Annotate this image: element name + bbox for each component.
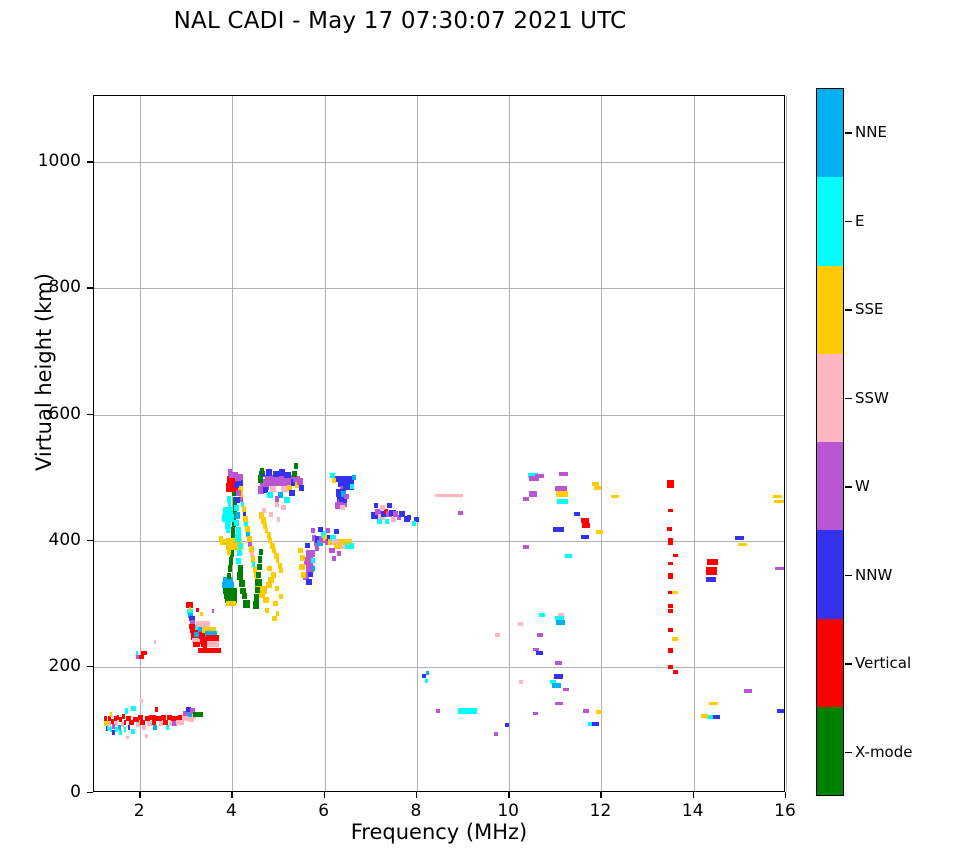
echo-pixel	[125, 708, 128, 713]
colorbar-label-nne: NNE	[855, 123, 887, 141]
echo-pixel	[668, 648, 673, 653]
echo-pixel	[668, 628, 673, 632]
echo-pixel	[594, 486, 600, 490]
echo-pixel	[533, 712, 538, 715]
echo-pixel	[556, 620, 564, 625]
echo-pixel	[193, 642, 200, 647]
echo-pixel	[592, 722, 598, 726]
y-tick	[87, 792, 93, 793]
echo-pixel	[259, 549, 263, 555]
x-tick	[693, 792, 694, 798]
echo-pixel	[344, 494, 349, 499]
echo-pixel	[706, 577, 716, 582]
echo-pixel	[289, 490, 295, 496]
echo-pixel	[227, 550, 232, 555]
echo-pixel	[239, 580, 245, 586]
colorbar-segment-x-mode[interactable]	[817, 707, 843, 795]
echo-pixel	[668, 573, 673, 578]
echo-pixel	[596, 710, 602, 714]
colorbar-label-sse: SSE	[855, 300, 884, 318]
echo-pixel	[271, 572, 276, 578]
echo-pixel	[495, 633, 500, 637]
echo-pixel	[701, 714, 707, 718]
y-tick	[87, 666, 93, 667]
echo-pixel	[119, 730, 122, 735]
echo-pixel	[299, 564, 305, 570]
echo-pixel	[556, 491, 568, 496]
echo-pixel	[292, 471, 297, 477]
echo-pixel	[523, 545, 529, 549]
colorbar-segment-nne[interactable]	[817, 89, 843, 177]
echo-pixel	[305, 543, 310, 548]
y-tick-label: 400	[13, 530, 81, 550]
echo-pixel	[574, 512, 580, 516]
echo-pixel	[281, 505, 286, 510]
echo-pixel	[668, 541, 673, 545]
echo-pixel	[231, 527, 235, 535]
echo-pixel	[131, 729, 135, 734]
colorbar-segment-w[interactable]	[817, 442, 843, 530]
x-tick-label: 8	[411, 801, 422, 821]
echo-pixel	[735, 536, 744, 540]
echo-pixel	[235, 512, 240, 518]
echo-pixel	[141, 651, 147, 655]
x-tick-label: 12	[590, 801, 612, 821]
echo-pixel	[124, 727, 127, 732]
echo-pixel	[279, 594, 284, 599]
echo-pixel	[337, 551, 342, 556]
echo-pixel	[155, 707, 158, 712]
x-tick-label: 14	[682, 801, 704, 821]
echo-pixel	[226, 528, 230, 533]
echo-pixel	[269, 512, 273, 517]
echo-pixel	[263, 597, 269, 603]
echo-pixel	[262, 508, 266, 513]
colorbar-tick	[845, 575, 852, 576]
colorbar-tick	[845, 132, 852, 133]
echo-pixel	[189, 607, 192, 611]
echo-pixel	[284, 472, 290, 478]
colorbar-label-e: E	[855, 212, 864, 230]
echo-pixel	[426, 671, 429, 675]
x-tick	[508, 792, 509, 798]
echo-pixel	[255, 587, 261, 593]
echo-pixel	[435, 494, 463, 497]
echo-pixel	[668, 665, 673, 669]
echo-pixel	[563, 688, 569, 691]
y-tick-label: 1000	[13, 151, 81, 171]
colorbar-segment-nnw[interactable]	[817, 530, 843, 618]
colorbar-label-ssw: SSW	[855, 389, 889, 407]
echo-pixel	[350, 484, 355, 489]
y-tick-label: 200	[13, 656, 81, 676]
echo-pixel	[349, 543, 355, 549]
echo-pixel	[668, 562, 673, 566]
echo-pixel	[523, 497, 529, 501]
x-tick-label: 4	[226, 801, 237, 821]
echo-pixel	[374, 503, 379, 508]
echo-pixel	[131, 706, 136, 711]
echo-pixel	[196, 608, 199, 612]
y-axis-label: Virtual height (km)	[32, 242, 56, 502]
colorbar-tick	[845, 221, 852, 222]
echo-pixel	[284, 497, 290, 503]
echo-pixel	[553, 527, 563, 532]
echo-pixel	[195, 712, 202, 717]
echo-pixel	[738, 543, 747, 547]
colorbar[interactable]	[816, 88, 844, 796]
echo-pixel	[298, 548, 303, 553]
echo-pixel	[559, 472, 568, 476]
echo-pixel	[267, 566, 272, 571]
echo-pixel	[744, 689, 751, 693]
x-tick	[139, 792, 140, 798]
echo-pixel	[267, 492, 273, 498]
echo-pixel	[673, 670, 679, 674]
x-tick	[416, 792, 417, 798]
echo-pixel	[207, 641, 219, 647]
colorbar-tick	[845, 752, 852, 753]
echo-scatter-canvas	[94, 96, 784, 791]
echo-pixel	[539, 613, 545, 617]
echo-pixel	[352, 475, 356, 480]
echo-pixel	[294, 463, 298, 469]
x-tick-label: 2	[134, 801, 145, 821]
echo-pixel	[222, 514, 234, 523]
y-tick	[87, 414, 93, 415]
x-tick-label: 16	[774, 801, 796, 821]
echo-pixel	[529, 491, 537, 496]
x-tick	[324, 792, 325, 798]
echo-pixel	[557, 499, 568, 504]
colorbar-segment-vertical[interactable]	[817, 619, 843, 707]
echo-pixel	[266, 469, 272, 475]
echo-pixel	[122, 714, 125, 719]
echo-pixel	[306, 550, 315, 558]
echo-pixel	[387, 503, 392, 508]
echo-pixel	[308, 572, 313, 577]
echo-pixel	[552, 683, 561, 688]
x-tick-label: 10	[497, 801, 519, 821]
echo-pixel	[425, 679, 428, 683]
echo-pixel	[254, 594, 260, 600]
echo-pixel	[272, 616, 277, 621]
echo-pixel	[223, 507, 233, 513]
x-tick-label: 6	[318, 801, 329, 821]
echo-pixel	[611, 495, 619, 499]
echo-pixel	[668, 509, 673, 513]
echo-pixel	[140, 699, 143, 703]
echo-pixel	[275, 502, 280, 507]
colorbar-label-x-mode: X-mode	[855, 743, 912, 761]
y-tick	[87, 161, 93, 162]
echo-pixel	[306, 579, 312, 585]
echo-pixel	[256, 572, 261, 578]
echo-pixel	[582, 523, 590, 528]
echo-pixel	[536, 651, 543, 655]
echo-pixel	[436, 709, 440, 713]
echo-pixel	[581, 535, 589, 539]
colorbar-label-w: W	[855, 477, 870, 495]
echo-pixel	[200, 612, 203, 616]
echo-pixel	[583, 709, 589, 712]
echo-pixel	[412, 521, 416, 526]
echo-pixel	[238, 565, 244, 573]
echo-pixel	[142, 725, 146, 730]
colorbar-label-vertical: Vertical	[855, 654, 911, 672]
echo-pixel	[332, 556, 336, 561]
echo-pixel	[260, 468, 264, 474]
echo-pixel	[236, 490, 241, 496]
echo-pixel	[555, 702, 562, 705]
echo-pixel	[713, 715, 720, 719]
colorbar-tick	[845, 398, 852, 399]
echo-pixel	[334, 529, 339, 534]
echo-pixel	[228, 565, 233, 573]
echo-pixel	[706, 567, 717, 575]
y-tick	[87, 540, 93, 541]
echo-pixel	[227, 573, 232, 579]
echo-pixel	[707, 559, 718, 565]
echo-pixel	[535, 474, 544, 478]
page-title: NAL CADI - May 17 07:30:07 2021 UTC	[0, 8, 800, 34]
echo-pixel	[709, 702, 717, 706]
echo-pixel	[235, 534, 241, 542]
echo-pixel	[234, 505, 239, 511]
echo-pixel	[554, 674, 562, 679]
echo-pixel	[391, 517, 396, 522]
echo-pixel	[258, 475, 263, 483]
echo-pixel	[242, 593, 248, 599]
echo-pixel	[229, 557, 234, 565]
echo-pixel	[494, 732, 498, 736]
x-tick	[600, 792, 601, 798]
echo-pixel	[153, 725, 157, 730]
echo-pixel	[255, 579, 261, 587]
echo-pixel	[565, 554, 571, 558]
echo-pixel	[258, 556, 262, 562]
echo-pixel	[126, 736, 129, 740]
echo-pixel	[377, 519, 382, 524]
echo-pixel	[311, 528, 315, 533]
echo-pixel	[332, 478, 336, 483]
echo-pixel	[226, 601, 236, 606]
echo-pixel	[234, 482, 239, 488]
echo-pixel	[219, 536, 224, 541]
x-axis-label: Frequency (MHz)	[93, 820, 785, 844]
echo-pixel	[311, 558, 315, 563]
echo-pixel	[253, 601, 259, 609]
echo-pixel	[773, 495, 782, 499]
echo-pixel	[110, 712, 113, 717]
echo-pixel	[774, 500, 784, 504]
colorbar-tick	[845, 486, 852, 487]
echo-pixel	[668, 604, 673, 608]
echo-pixel	[235, 497, 240, 503]
echo-pixel	[318, 527, 323, 532]
echo-pixel	[672, 591, 678, 595]
echo-pixel	[154, 640, 156, 644]
colorbar-tick	[845, 309, 852, 310]
echo-pixel	[299, 485, 305, 491]
echo-pixel	[312, 566, 316, 571]
echo-pixel	[236, 527, 241, 533]
echo-pixel	[340, 505, 345, 510]
echo-pixel	[238, 543, 243, 549]
colorbar-segment-ssw[interactable]	[817, 354, 843, 442]
echo-pixel	[228, 502, 232, 507]
echo-pixel	[667, 480, 674, 488]
echo-pixel	[300, 555, 306, 561]
echo-pixel	[212, 609, 215, 613]
ionogram-plot-area	[93, 95, 785, 792]
echo-pixel	[518, 622, 523, 626]
echo-pixel	[279, 568, 283, 573]
x-tick	[785, 792, 786, 798]
echo-pixel	[407, 515, 412, 520]
echo-pixel	[385, 519, 390, 524]
echo-pixel	[668, 609, 673, 613]
echo-pixel	[136, 655, 139, 659]
echo-pixel	[301, 572, 307, 578]
echo-pixel	[265, 608, 270, 613]
echo-pixel	[673, 554, 679, 557]
y-tick	[87, 287, 93, 288]
echo-pixel	[505, 723, 510, 727]
echo-pixel	[326, 528, 331, 533]
echo-pixel	[257, 564, 262, 570]
echo-pixel	[537, 633, 543, 637]
echo-pixel	[236, 558, 241, 564]
echo-pixel	[275, 586, 279, 591]
echo-pixel	[777, 709, 784, 713]
echo-pixel	[243, 600, 249, 608]
echo-pixel	[519, 680, 523, 683]
echo-pixel	[775, 567, 784, 571]
echo-pixel	[166, 725, 170, 730]
echo-pixel	[234, 520, 239, 526]
echo-pixel	[555, 661, 561, 665]
echo-pixel	[273, 471, 279, 477]
echo-pixel	[235, 474, 241, 480]
x-tick	[231, 792, 232, 798]
colorbar-segment-e[interactable]	[817, 177, 843, 265]
gridline-vertical	[786, 96, 787, 791]
y-tick-label: 0	[13, 782, 81, 802]
echo-pixel	[198, 648, 221, 653]
echo-pixel	[667, 527, 672, 531]
echo-pixel	[276, 611, 280, 616]
echo-pixel	[237, 572, 243, 580]
colorbar-tick	[845, 663, 852, 664]
echo-pixel	[458, 511, 464, 515]
colorbar-segment-sse[interactable]	[817, 266, 843, 354]
echo-pixel	[180, 720, 185, 725]
colorbar-label-nnw: NNW	[855, 566, 892, 584]
echo-pixel	[273, 601, 278, 606]
echo-pixel	[329, 548, 335, 553]
echo-pixel	[672, 637, 678, 641]
echo-pixel	[277, 517, 281, 522]
echo-pixel	[237, 550, 242, 556]
echo-pixel	[458, 708, 476, 713]
echo-pixel	[596, 530, 603, 534]
echo-pixel	[145, 734, 148, 738]
echo-pixel	[380, 505, 385, 510]
